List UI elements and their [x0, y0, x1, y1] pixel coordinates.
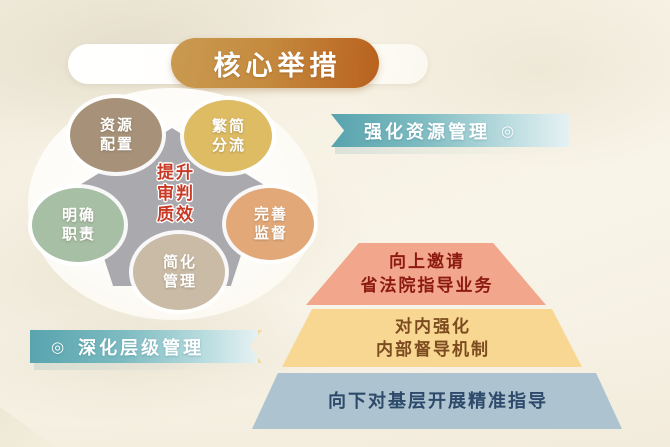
- pyramid-tier-bottom[interactable]: 向下对基层开展精准指导: [252, 373, 622, 429]
- core-measures-cluster: 提升 审判 质效 资源 配置 繁简 分流 完善 监督 简化 管理 明确 职责: [28, 88, 318, 320]
- bubble-label-line-2: 管理: [161, 272, 197, 291]
- bubble-label-line-1: 明确: [60, 206, 96, 225]
- ribbon-label: 深化层级管理: [75, 334, 204, 360]
- tier-label-line-2: 内部督导机制: [374, 338, 490, 361]
- ribbon-shadow: [335, 147, 571, 154]
- double-circle-icon: ◎: [48, 338, 67, 356]
- bubble-label-line-1: 简化: [161, 253, 197, 272]
- cluster-bubble-simplify-management[interactable]: 简化 管理: [133, 234, 225, 310]
- bubble-label-line-2: 职责: [60, 225, 96, 244]
- page-title: 核心举措: [171, 38, 379, 88]
- pyramid-tier-top[interactable]: 向上邀请 省法院指导业务: [306, 243, 546, 305]
- bubble-label-line-2: 配置: [98, 135, 134, 154]
- pyramid-tier-middle[interactable]: 对内强化 内部督导机制: [282, 309, 582, 367]
- bubble-label-line-2: 分流: [210, 136, 246, 155]
- center-label-line-2: 审判: [132, 183, 218, 204]
- cluster-bubble-clarify-duties[interactable]: 明确 职责: [32, 188, 124, 262]
- tier-label-line-1: 对内强化: [393, 315, 471, 338]
- ribbon-strengthen-resource-management[interactable]: 强化资源管理 ◎: [331, 114, 570, 147]
- bubble-label-line-2: 监督: [252, 224, 288, 243]
- tier-label-line-1: 向上邀请: [387, 250, 465, 274]
- infographic-canvas: 核心举措 提升 审判 质效 资源 配置 繁简 分流 完善 监督 简化 管理 明确…: [0, 0, 670, 447]
- cluster-bubble-case-diversion[interactable]: 繁简 分流: [184, 100, 272, 172]
- cluster-center-label: 提升 审判 质效: [132, 162, 218, 225]
- bubble-label-line-1: 完善: [252, 205, 288, 224]
- cluster-bubble-improve-supervision[interactable]: 完善 监督: [226, 188, 314, 260]
- bubble-label-line-1: 繁简: [210, 117, 246, 136]
- ribbon-deepen-hierarchy-management[interactable]: ◎ 深化层级管理: [30, 330, 262, 363]
- ribbon-tail-accent: [258, 330, 284, 363]
- page-title-text: 核心举措: [209, 44, 342, 83]
- tier-label-line-2: 省法院指导业务: [359, 274, 494, 298]
- double-circle-icon: ◎: [498, 122, 517, 140]
- center-label-line-3: 质效: [132, 204, 218, 225]
- background-corner-wedge: [0, 407, 56, 447]
- ribbon-label: 强化资源管理: [361, 118, 490, 144]
- cluster-bubble-resource-allocation[interactable]: 资源 配置: [70, 98, 162, 172]
- bubble-label-line-1: 资源: [98, 116, 134, 135]
- tier-label-line-1: 向下对基层开展精准指导: [326, 389, 548, 413]
- ribbon-shadow: [34, 363, 264, 370]
